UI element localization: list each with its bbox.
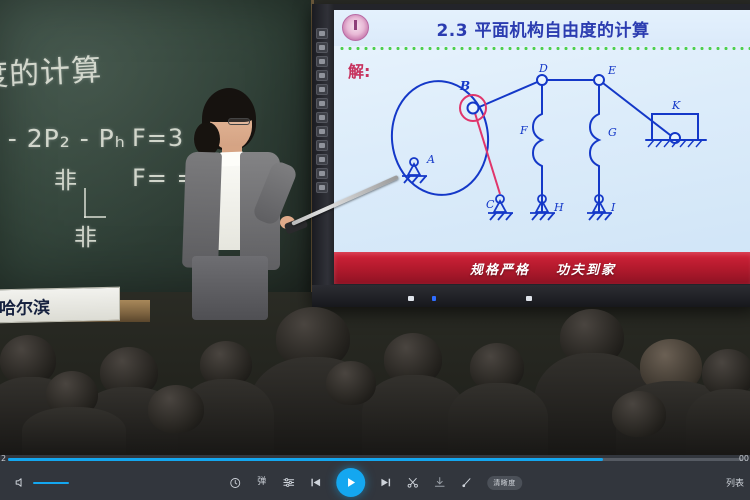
progress-fill xyxy=(8,458,603,461)
slide-body: 解: xyxy=(334,46,750,252)
label-H: H xyxy=(553,201,564,214)
label-C: C xyxy=(486,198,495,211)
smartboard-side-buttons[interactable] xyxy=(316,28,330,193)
sb-button-4[interactable] xyxy=(316,70,328,81)
sb-button-8[interactable] xyxy=(316,126,328,137)
university-crest-icon xyxy=(342,14,369,41)
settings-sliders-icon[interactable] xyxy=(282,475,295,491)
teacher-glasses xyxy=(228,118,250,125)
sb-button-9[interactable] xyxy=(316,140,328,151)
sb-button-12[interactable] xyxy=(316,182,328,193)
video-viewport[interactable]: 度的计算 n - 2P₂ - Pₕ 非 非 F=3 =1 F= =2 哈尔滨 xyxy=(0,0,750,455)
label-I: I xyxy=(610,201,616,214)
controls-row: 弹 xyxy=(0,465,750,500)
danmaku-icon[interactable]: 弹 xyxy=(255,475,268,491)
center-controls: 弹 xyxy=(228,468,522,497)
slide-title: 2.3 平面机构自由度的计算 xyxy=(436,16,649,41)
scissors-icon[interactable] xyxy=(406,475,419,491)
video-player-controls[interactable]: 2 00 弹 xyxy=(0,455,750,500)
slide-header: 2.3 平面机构自由度的计算 xyxy=(334,10,750,46)
next-icon[interactable] xyxy=(379,475,392,491)
label-D: D xyxy=(538,62,548,75)
sb-button-11[interactable] xyxy=(316,168,328,179)
label-E: E xyxy=(607,64,616,77)
slide-motto-banner: 规格严格 功夫到家 xyxy=(334,252,750,284)
audience-shoulders xyxy=(22,407,126,455)
sb-button-2[interactable] xyxy=(316,42,328,53)
play-icon xyxy=(344,476,357,489)
audience xyxy=(0,295,750,455)
download-icon[interactable] xyxy=(433,475,446,491)
audience-shoulders xyxy=(686,389,750,455)
audience-head xyxy=(148,385,204,433)
motto-left: 规格严格 xyxy=(470,259,530,278)
time-current: 2 xyxy=(1,454,6,463)
sb-button-7[interactable] xyxy=(316,112,328,123)
label-A: A xyxy=(426,153,435,166)
clock-icon[interactable] xyxy=(228,475,241,491)
blackboard-bracket-vertical xyxy=(84,188,86,218)
label-K: K xyxy=(671,99,681,112)
sb-button-10[interactable] xyxy=(316,154,328,165)
sb-button-5[interactable] xyxy=(316,84,328,95)
blackboard-symbol-1: 非 xyxy=(54,161,78,195)
motto-right: 功夫到家 xyxy=(556,259,616,278)
blackboard-symbol-2: 非 xyxy=(74,218,98,252)
blackboard-equation-1: n - 2P₂ - Pₕ xyxy=(0,124,126,153)
progress-track[interactable] xyxy=(8,458,742,461)
sb-button-3[interactable] xyxy=(316,56,328,67)
pen-icon[interactable] xyxy=(460,475,473,491)
sb-button-1[interactable] xyxy=(316,28,328,39)
label-F: F xyxy=(519,124,528,137)
presentation-slide: 2.3 平面机构自由度的计算 解: xyxy=(334,10,750,284)
right-controls: 列表 xyxy=(726,476,744,489)
time-total: 00 xyxy=(739,454,749,463)
mechanism-diagram: A D E F G H I C K B xyxy=(334,46,750,252)
volume-icon[interactable] xyxy=(14,476,27,489)
progress-bar-wrap[interactable]: 2 00 xyxy=(0,455,750,465)
label-B: B xyxy=(459,79,470,93)
teacher-figure xyxy=(176,88,296,318)
quality-selector[interactable]: 清晰度 xyxy=(487,476,522,490)
play-button[interactable] xyxy=(336,468,365,497)
blackboard-bracket-horizontal xyxy=(84,216,106,218)
volume-slider[interactable] xyxy=(33,482,69,484)
teacher-jacket-left xyxy=(182,151,222,268)
app-root: 度的计算 n - 2P₂ - Pₕ 非 非 F=3 =1 F= =2 哈尔滨 xyxy=(0,0,750,500)
sb-button-6[interactable] xyxy=(316,98,328,109)
audience-shoulders xyxy=(448,383,548,455)
smartboard[interactable]: 2.3 平面机构自由度的计算 解: xyxy=(312,4,750,307)
playlist-button[interactable]: 列表 xyxy=(726,476,744,489)
label-G: G xyxy=(608,126,617,139)
volume-control[interactable] xyxy=(14,476,69,489)
audience-head xyxy=(612,391,666,437)
blackboard-title: 度的计算 xyxy=(0,45,103,95)
audience-head xyxy=(326,361,376,405)
previous-icon[interactable] xyxy=(309,475,322,491)
